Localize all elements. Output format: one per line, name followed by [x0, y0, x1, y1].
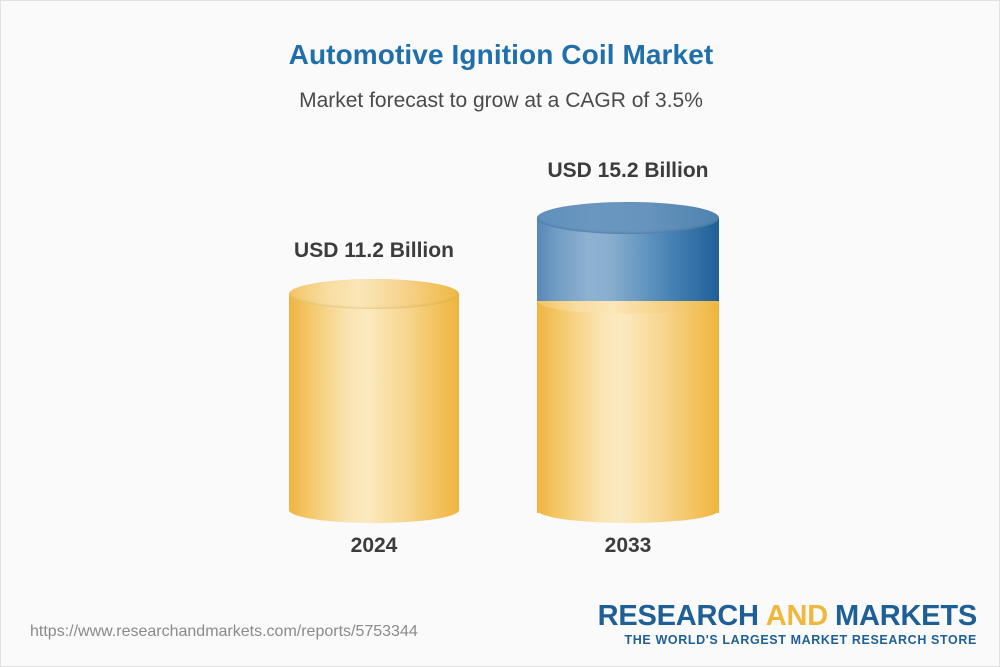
- bar-top-cap-2024: [289, 279, 459, 309]
- x-axis-label-2033: 2033: [538, 534, 718, 558]
- bar-top-cap-2033: [537, 202, 719, 234]
- plot-area: USD 11.2 Billion USD 15.2 Billion: [1, 1, 1000, 667]
- bar-value-label-2024: USD 11.2 Billion: [284, 239, 464, 263]
- bar-segment-base-2033: [537, 301, 719, 513]
- brand-logo-wordmark: RESEARCHANDMARKETS: [598, 601, 977, 631]
- brand-logo-research: RESEARCH: [598, 600, 759, 632]
- brand-logo-and: AND: [766, 600, 828, 632]
- source-url[interactable]: https://www.researchandmarkets.com/repor…: [30, 623, 418, 641]
- bar-value-label-2033: USD 15.2 Billion: [538, 159, 718, 183]
- brand-logo-tagline: THE WORLD'S LARGEST MARKET RESEARCH STOR…: [598, 633, 977, 647]
- chart-canvas: Automotive Ignition Coil Market Market f…: [0, 0, 1000, 667]
- bar-cylinder-2024[interactable]: [289, 279, 459, 517]
- bar-cylinder-2033[interactable]: [537, 202, 719, 517]
- bar-body-2024: [289, 294, 459, 510]
- x-axis-label-2024: 2024: [284, 534, 464, 558]
- brand-logo-markets: MARKETS: [835, 600, 977, 632]
- brand-logo[interactable]: RESEARCHANDMARKETS THE WORLD'S LARGEST M…: [598, 601, 977, 647]
